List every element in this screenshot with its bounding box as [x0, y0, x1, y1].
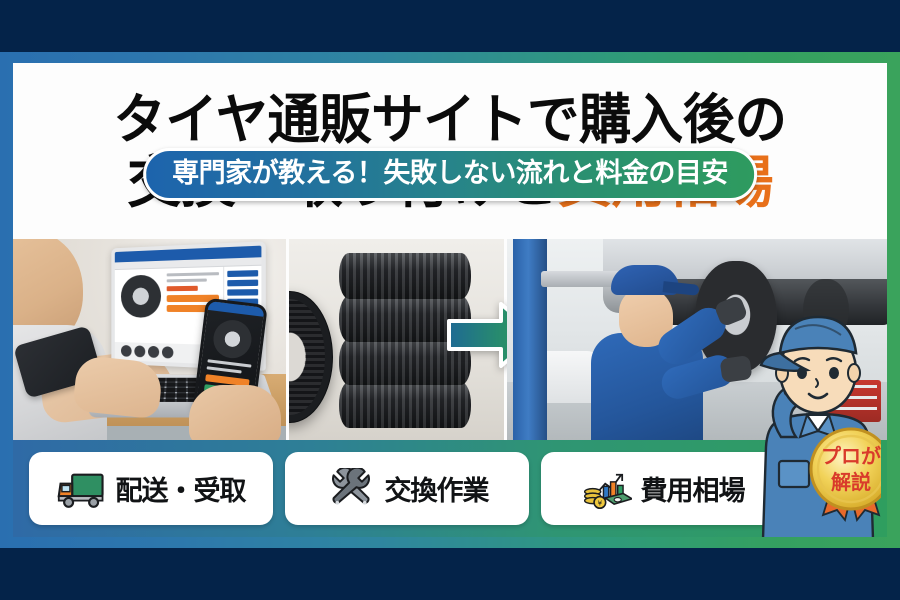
delivery-truck-icon — [57, 468, 107, 510]
subtitle-pill: 専門家が教える！失敗しない流れと料金の目安 — [143, 148, 757, 201]
product-price — [167, 286, 198, 291]
seal-text-line1: プロが — [821, 444, 881, 468]
badge-delivery-label: 配送・受取 — [116, 469, 246, 508]
money-chart-icon: ¥ — [582, 468, 632, 510]
top-navy-bar — [0, 0, 900, 52]
phone-site-header — [208, 301, 265, 317]
mechanic-mascot: プロが 解説 — [755, 311, 881, 537]
mechanic-worker — [589, 265, 709, 440]
right-arrow-icon — [447, 301, 507, 369]
photo-online-shopping — [13, 239, 289, 440]
phone-text-line — [207, 366, 242, 373]
thumbnail-dot — [162, 346, 173, 358]
product-tire-image — [121, 275, 161, 318]
mascot-chest-pocket — [779, 461, 809, 487]
product-text-line — [167, 279, 207, 283]
badge-replacement-work[interactable]: 交換作業 — [285, 452, 529, 525]
mechanic-cap — [611, 265, 679, 295]
phone-tire-image — [211, 318, 253, 360]
mascot-cap — [780, 317, 856, 353]
thumbnail-dot — [148, 346, 159, 358]
mascot-eye-left — [797, 367, 807, 379]
car-lift-post — [513, 239, 547, 440]
sidebar-button — [227, 289, 258, 296]
badge-delivery[interactable]: 配送・受取 — [29, 452, 273, 525]
sidebar-button — [227, 270, 258, 277]
photo-tire-stack — [289, 239, 507, 440]
tire-band — [339, 382, 471, 428]
seal-text-line2: 解説 — [831, 470, 871, 494]
badge-cost-label: 費用相場 — [641, 469, 745, 508]
content-plate: タイヤ通販サイトで購入後の 交換・取り付けと費用相場 — [13, 63, 887, 537]
mechanic-glove — [719, 355, 752, 383]
tire-band — [339, 253, 471, 299]
thumbnail-dot — [134, 345, 145, 357]
badge-replacement-label: 交換作業 — [385, 469, 489, 508]
mascot-ear — [848, 364, 860, 382]
crossed-tools-icon — [326, 468, 376, 510]
mascot-eye-right — [829, 367, 839, 379]
thumbnail-canvas: タイヤ通販サイトで購入後の 交換・取り付けと費用相場 — [0, 0, 900, 600]
badge-cost-estimate[interactable]: ¥ 費用相場 — [541, 452, 785, 525]
product-text-line — [167, 272, 219, 276]
thumbnail-dot — [121, 345, 132, 357]
holding-hand — [189, 385, 281, 440]
bottom-navy-bar — [0, 548, 900, 600]
title-line-1: タイヤ通販サイトで購入後の — [113, 93, 786, 147]
photo-divider — [286, 239, 289, 440]
svg-text:¥: ¥ — [597, 498, 602, 507]
product-thumbnails — [121, 345, 173, 359]
sidebar-button — [227, 280, 258, 287]
